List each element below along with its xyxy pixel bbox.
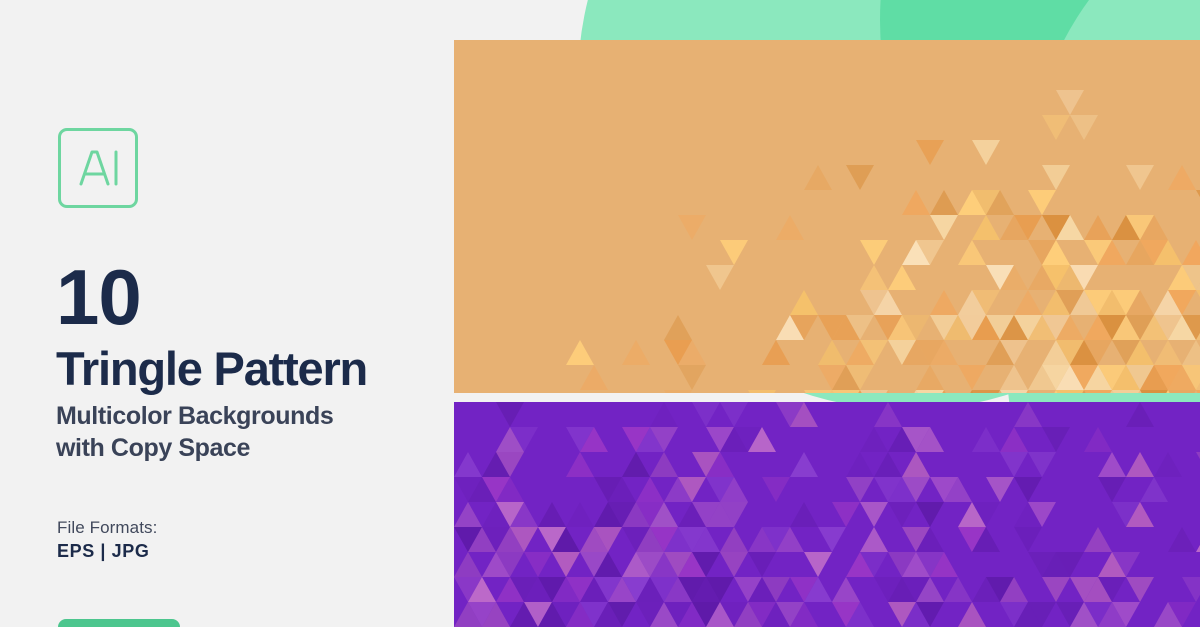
page-subtitle-line-1: Multicolor Backgrounds — [56, 402, 333, 430]
item-count: 10 — [56, 258, 141, 336]
purple-triangle-pattern-preview[interactable] — [454, 402, 1200, 627]
page-title: Tringle Pattern — [56, 345, 367, 392]
file-formats-label: File Formats: — [57, 518, 157, 538]
orange-triangle-pattern-preview[interactable] — [454, 40, 1200, 393]
file-formats-value: EPS | JPG — [57, 541, 149, 562]
page-subtitle-line-2: with Copy Space — [56, 434, 250, 462]
promo-banner: 10 Tringle Pattern Multicolor Background… — [0, 0, 1200, 627]
cta-button[interactable] — [58, 619, 180, 627]
ai-file-format-icon — [58, 128, 138, 208]
page-subtitle: Multicolor Backgroundswith Copy Space — [56, 400, 456, 464]
